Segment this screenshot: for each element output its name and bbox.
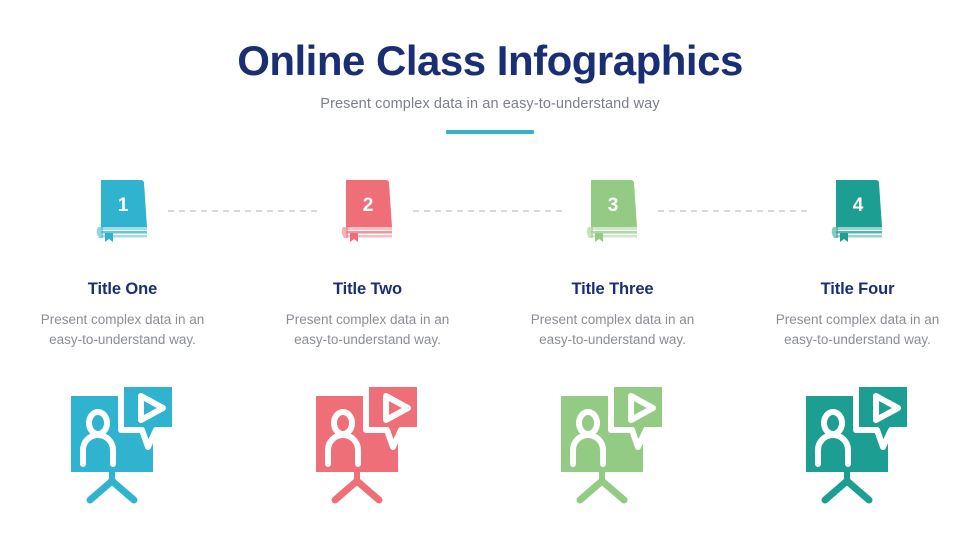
column-1: 1 Title One Present complex data in an e… xyxy=(0,178,245,349)
presentation-board-icon[interactable] xyxy=(303,382,433,508)
book-icon[interactable]: 3 xyxy=(575,178,651,246)
book-icon[interactable]: 1 xyxy=(85,178,161,246)
book-icon[interactable]: 2 xyxy=(330,178,406,246)
illustration-cell-3 xyxy=(490,382,735,508)
column-description-3: Present complex data in an easy-to-under… xyxy=(528,310,698,349)
infographic-slide: Online Class Infographics Present comple… xyxy=(0,0,980,551)
step-number-4: 4 xyxy=(852,195,863,216)
step-number-1: 1 xyxy=(117,195,128,216)
page-subtitle: Present complex data in an easy-to-under… xyxy=(0,96,980,112)
step-number-2: 2 xyxy=(362,195,373,216)
column-description-1: Present complex data in an easy-to-under… xyxy=(38,310,208,349)
step-number-3: 3 xyxy=(607,195,618,216)
illustration-cell-1 xyxy=(0,382,245,508)
column-4: 4 Title Four Present complex data in an … xyxy=(735,178,980,349)
presentation-board-icon[interactable] xyxy=(548,382,678,508)
column-title-2: Title Two xyxy=(333,280,402,299)
page-title: Online Class Infographics xyxy=(0,38,980,84)
column-description-4: Present complex data in an easy-to-under… xyxy=(773,310,943,349)
header: Online Class Infographics Present comple… xyxy=(0,38,980,134)
illustration-cell-4 xyxy=(735,382,980,508)
column-3: 3 Title Three Present complex data in an… xyxy=(490,178,735,349)
column-description-2: Present complex data in an easy-to-under… xyxy=(283,310,453,349)
steps-row: 1 Title One Present complex data in an e… xyxy=(0,178,980,349)
column-title-1: Title One xyxy=(88,280,157,299)
title-underline-accent xyxy=(446,130,534,134)
presentation-board-icon[interactable] xyxy=(58,382,188,508)
column-title-3: Title Three xyxy=(571,280,653,299)
book-icon[interactable]: 4 xyxy=(820,178,896,246)
column-2: 2 Title Two Present complex data in an e… xyxy=(245,178,490,349)
illustration-row xyxy=(0,382,980,508)
column-title-4: Title Four xyxy=(821,280,895,299)
illustration-cell-2 xyxy=(245,382,490,508)
presentation-board-icon[interactable] xyxy=(793,382,923,508)
